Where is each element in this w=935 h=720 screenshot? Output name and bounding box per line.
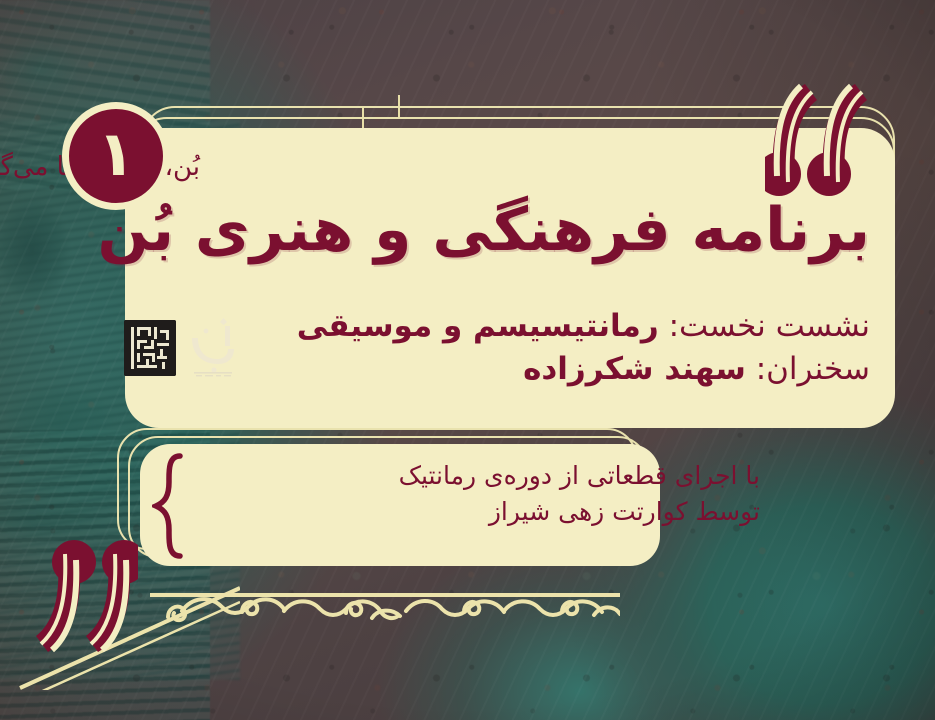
poster-root: ۱ — [0, 0, 935, 720]
session-label: نشست نخست: — [669, 308, 870, 344]
session-number-badge: ۱ — [62, 102, 170, 210]
speaker-value: سهند شکرزاده — [523, 351, 746, 387]
speaker-label: سخنران: — [756, 351, 870, 387]
bon-wordmark-logo-icon — [184, 316, 242, 380]
session-value: رمانتیسیسم و موسیقی — [297, 308, 659, 344]
performance-line-2: توسط کوارتت زهی شیراز — [175, 494, 760, 530]
page-title: برنامه فرهنگی و هنری بُن — [60, 195, 870, 265]
performance-details: با اجرای قطعاتی از دوره‌ی رمانتیک توسط ک… — [175, 458, 760, 531]
kufic-square-logo-icon — [124, 320, 176, 376]
quote-close-icon — [28, 538, 138, 658]
performance-line-1: با اجرای قطعاتی از دوره‌ی رمانتیک — [175, 458, 760, 494]
speaker-line: سخنران: سهند شکرزاده — [240, 348, 870, 391]
scrollwork-ornament — [150, 585, 620, 635]
quote-open-icon — [765, 78, 875, 198]
session-line: نشست نخست: رمانتیسیسم و موسیقی — [240, 305, 870, 348]
session-number-value: ۱ — [97, 123, 135, 185]
logo-group — [124, 312, 244, 384]
session-details: نشست نخست: رمانتیسیسم و موسیقی سخنران: س… — [240, 305, 870, 391]
